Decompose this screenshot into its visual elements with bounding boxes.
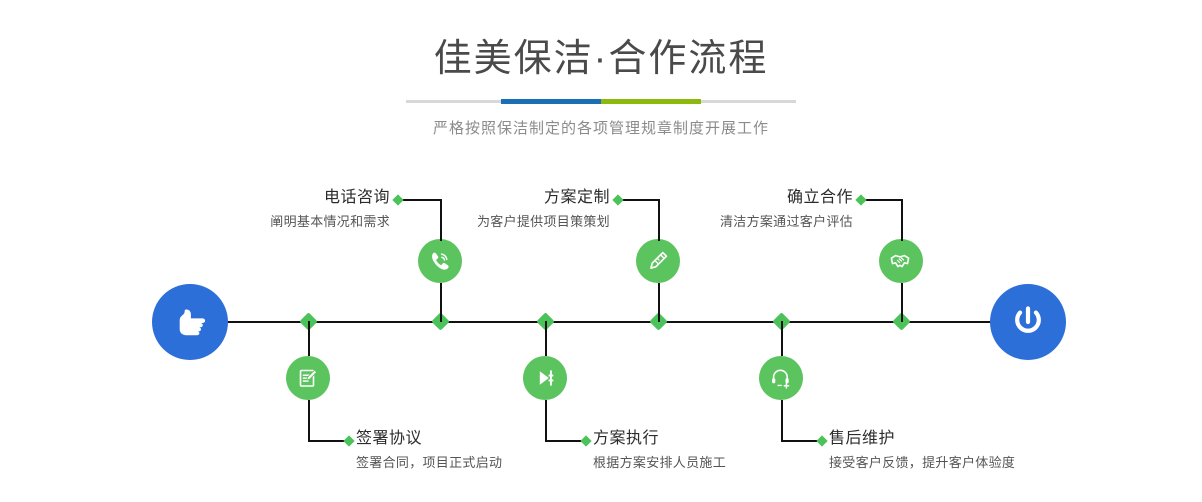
timeline-start-node[interactable] <box>152 284 228 360</box>
step-1-stem <box>440 283 442 322</box>
step-6-elbow-h <box>781 440 821 442</box>
step-5-elbow-v <box>901 199 903 241</box>
step-5-title: 确立合作 <box>660 188 853 208</box>
timeline-end-node[interactable] <box>990 284 1066 360</box>
step-3-desc: 为客户提供项目策策划 <box>420 212 610 232</box>
document-edit-icon <box>295 365 321 391</box>
step-3-stem <box>658 283 660 322</box>
phone-call-icon <box>427 248 453 274</box>
step-1-icon-badge[interactable] <box>418 239 462 283</box>
step-4-elbow-v <box>545 400 547 442</box>
step-2-stem <box>308 321 310 356</box>
play-forward-icon <box>532 365 558 391</box>
step-6-label: 售后维护 接受客户反馈，提升客户体验度 <box>829 429 1015 473</box>
pencil-ruler-icon <box>645 248 671 274</box>
step-2-desc: 签署合同，项目正式启动 <box>356 453 502 473</box>
headset-support-icon <box>768 365 794 391</box>
step-5-elbow-h <box>863 199 903 201</box>
infographic-canvas: 佳美保洁·合作流程 严格按照保洁制定的各项管理规章制度开展工作 <box>0 0 1202 502</box>
step-4-stem <box>545 321 547 356</box>
step-3-elbow-h <box>620 199 660 201</box>
step-5-label: 确立合作 清洁方案通过客户评估 <box>660 188 853 232</box>
step-6-elbow-v <box>781 400 783 442</box>
step-2-elbow-h <box>308 440 348 442</box>
pointing-hand-icon <box>167 299 213 345</box>
step-2-elbow-v <box>308 400 310 442</box>
step-4-label: 方案执行 根据方案安排人员施工 <box>593 429 726 473</box>
timeline-axis <box>222 321 992 323</box>
step-5-desc: 清洁方案通过客户评估 <box>660 212 853 232</box>
step-4-title: 方案执行 <box>593 429 726 449</box>
step-6-desc: 接受客户反馈，提升客户体验度 <box>829 453 1015 473</box>
step-1-desc: 阐明基本情况和需求 <box>200 212 390 232</box>
step-4-elbow-h <box>545 440 585 442</box>
step-5-stem <box>901 283 903 322</box>
step-1-label: 电话咨询 阐明基本情况和需求 <box>200 188 390 232</box>
power-icon <box>1005 299 1051 345</box>
step-5-icon-badge[interactable] <box>879 239 923 283</box>
step-5-label-marker <box>855 194 866 205</box>
step-4-desc: 根据方案安排人员施工 <box>593 453 726 473</box>
step-3-label: 方案定制 为客户提供项目策策划 <box>420 188 610 232</box>
step-6-stem <box>781 321 783 356</box>
step-1-label-marker <box>392 194 403 205</box>
step-4-label-marker <box>580 435 591 446</box>
step-2-icon-badge[interactable] <box>286 356 330 400</box>
handshake-icon <box>888 248 914 274</box>
step-4-icon-badge[interactable] <box>523 356 567 400</box>
step-1-title: 电话咨询 <box>200 188 390 208</box>
step-2-title: 签署协议 <box>356 429 502 449</box>
step-3-label-marker <box>612 194 623 205</box>
step-6-title: 售后维护 <box>829 429 1015 449</box>
step-6-icon-badge[interactable] <box>759 356 803 400</box>
step-3-icon-badge[interactable] <box>636 239 680 283</box>
step-6-label-marker <box>816 435 827 446</box>
process-timeline: 电话咨询 阐明基本情况和需求 签署协议 签署合同，项目正式启动 <box>0 0 1202 502</box>
step-3-title: 方案定制 <box>420 188 610 208</box>
step-2-label-marker <box>343 435 354 446</box>
step-2-label: 签署协议 签署合同，项目正式启动 <box>356 429 502 473</box>
